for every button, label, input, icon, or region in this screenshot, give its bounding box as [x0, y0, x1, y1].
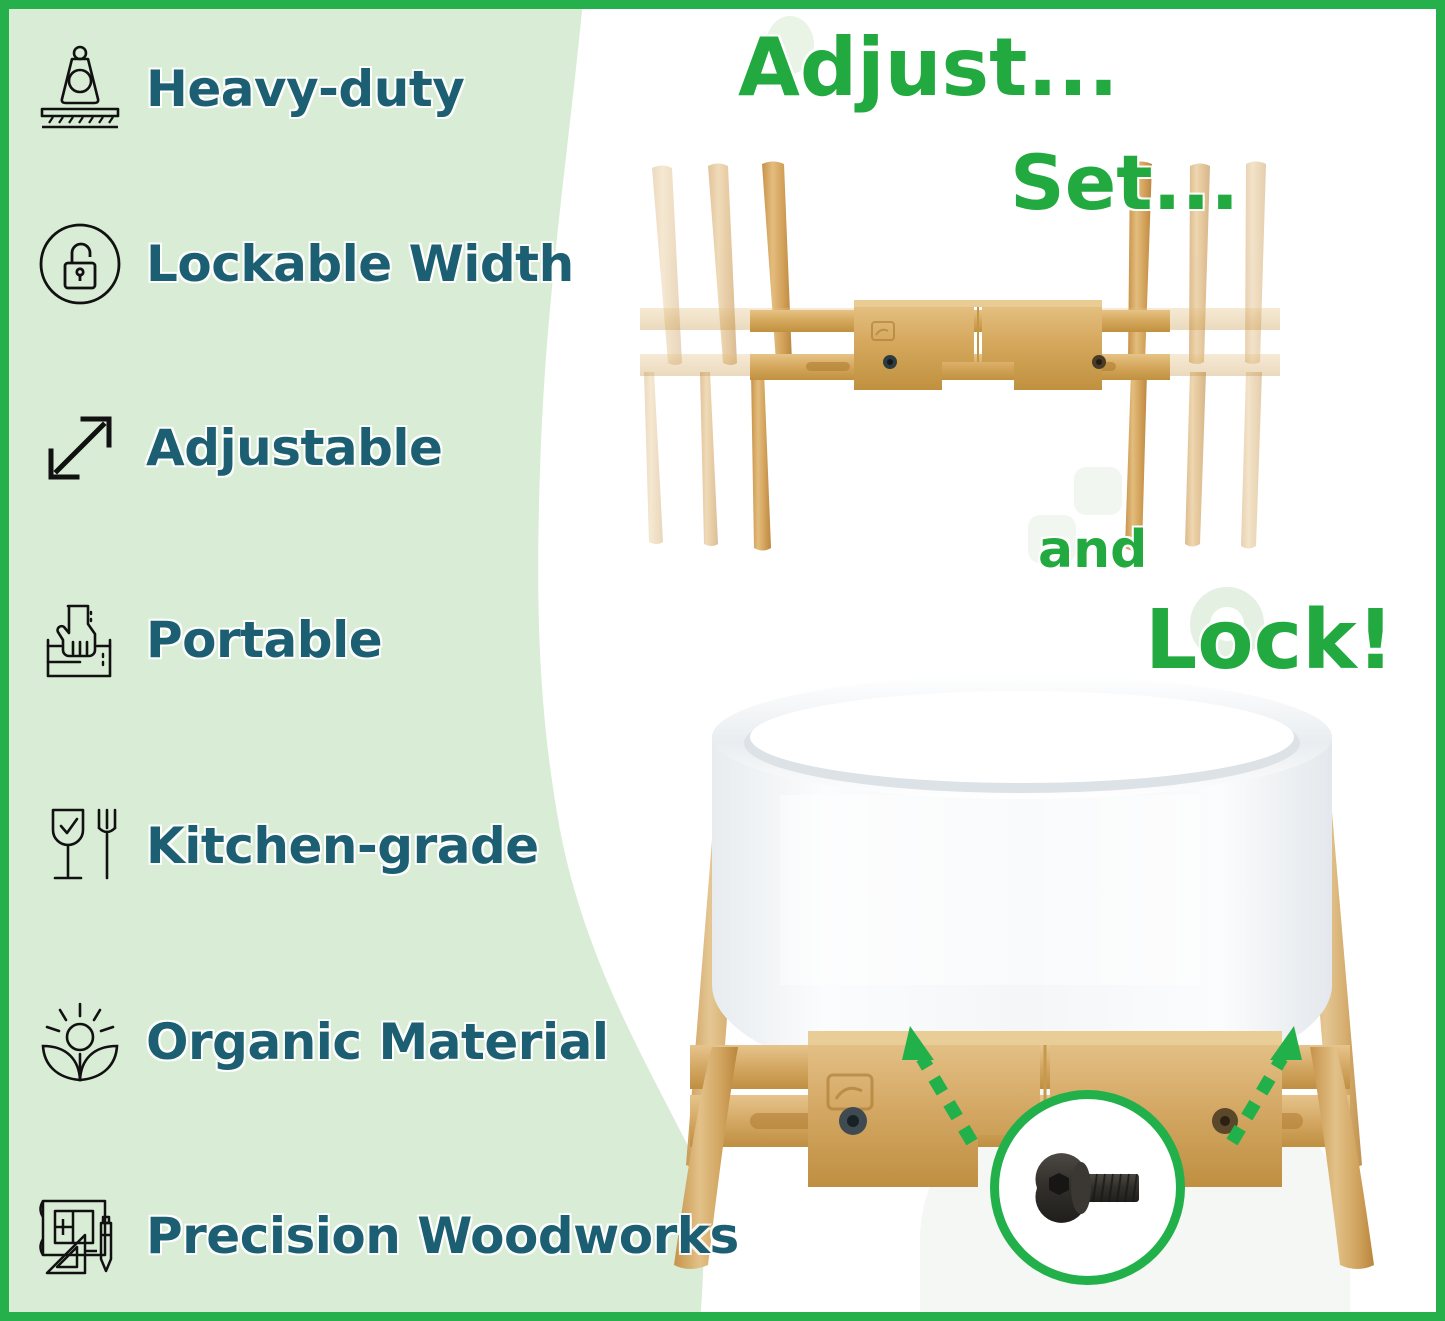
locking-screw-icon — [1023, 1148, 1153, 1228]
feature-item-lockable-width: Lockable Width — [26, 208, 574, 320]
diagonal-resize-arrow-icon — [26, 394, 134, 502]
arrow-head-right — [1270, 1026, 1302, 1060]
feature-label: Adjustable — [146, 423, 442, 473]
arrow-head-left — [902, 1026, 934, 1060]
screw-detail-callout — [990, 1090, 1185, 1285]
wine-glass-fork-icon — [26, 792, 134, 900]
hand-lifting-box-icon — [26, 586, 134, 694]
feature-item-kitchen-grade: Kitchen-grade — [26, 790, 539, 902]
feature-label: Precision Woodworks — [146, 1211, 739, 1261]
dashed-arrow-left-line — [922, 1058, 972, 1142]
callout-step-adjust: Adjust... — [738, 28, 1119, 108]
callout-conjunction-and: and — [1038, 524, 1147, 576]
open-padlock-circle-icon — [26, 210, 134, 318]
feature-item-organic-material: Organic Material — [26, 986, 608, 1098]
dashed-arrow-right-line — [1232, 1058, 1282, 1142]
feature-label: Lockable Width — [146, 239, 574, 289]
feature-label: Organic Material — [146, 1017, 608, 1067]
feature-list: Heavy-duty Lockable Width — [0, 0, 720, 1321]
feature-label: Portable — [146, 615, 382, 665]
feature-label: Heavy-duty — [146, 64, 464, 114]
sun-over-leaves-icon — [26, 988, 134, 1096]
product-infographic: Heavy-duty Lockable Width — [0, 0, 1445, 1321]
callout-step-set: Set... — [1010, 145, 1239, 221]
blueprint-ruler-pencil-icon — [26, 1182, 134, 1290]
feature-item-heavy-duty: Heavy-duty — [26, 33, 464, 145]
feature-item-adjustable: Adjustable — [26, 392, 442, 504]
callout-step-lock: Lock! — [1145, 600, 1394, 682]
feature-item-precision-woodworks: Precision Woodworks — [26, 1180, 739, 1292]
feature-label: Kitchen-grade — [146, 821, 539, 871]
weight-on-platform-icon — [26, 35, 134, 143]
feature-item-portable: Portable — [26, 584, 382, 696]
